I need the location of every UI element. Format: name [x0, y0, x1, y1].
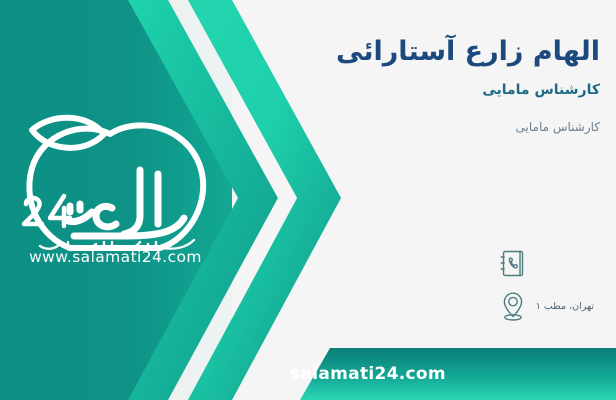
contact-block: تهران، مطب ۱: [498, 248, 594, 332]
apple-outline-icon: [8, 108, 223, 258]
banner-shape: [300, 348, 616, 400]
phonebook-icon: [498, 248, 528, 280]
profile-info: الهام زارع آستارائی کارشناس مامایی کارشن…: [270, 34, 600, 134]
footer-banner: [0, 348, 616, 400]
map-pin-icon: [498, 290, 528, 322]
specialty-secondary: کارشناس مامایی: [270, 120, 600, 134]
contact-row-phone[interactable]: [498, 248, 594, 280]
location-label: تهران، مطب ۱: [536, 301, 594, 312]
logo-url: www.salamati24.com: [8, 248, 223, 266]
doctor-profile-card: www.salamati24.com الهام زارع آستارائی ک…: [0, 0, 616, 400]
specialty-primary: کارشناس مامایی: [270, 82, 600, 98]
doctor-name: الهام زارع آستارائی: [270, 34, 600, 70]
contact-row-location[interactable]: تهران، مطب ۱: [498, 290, 594, 322]
brand-logo: www.salamati24.com: [8, 108, 223, 278]
